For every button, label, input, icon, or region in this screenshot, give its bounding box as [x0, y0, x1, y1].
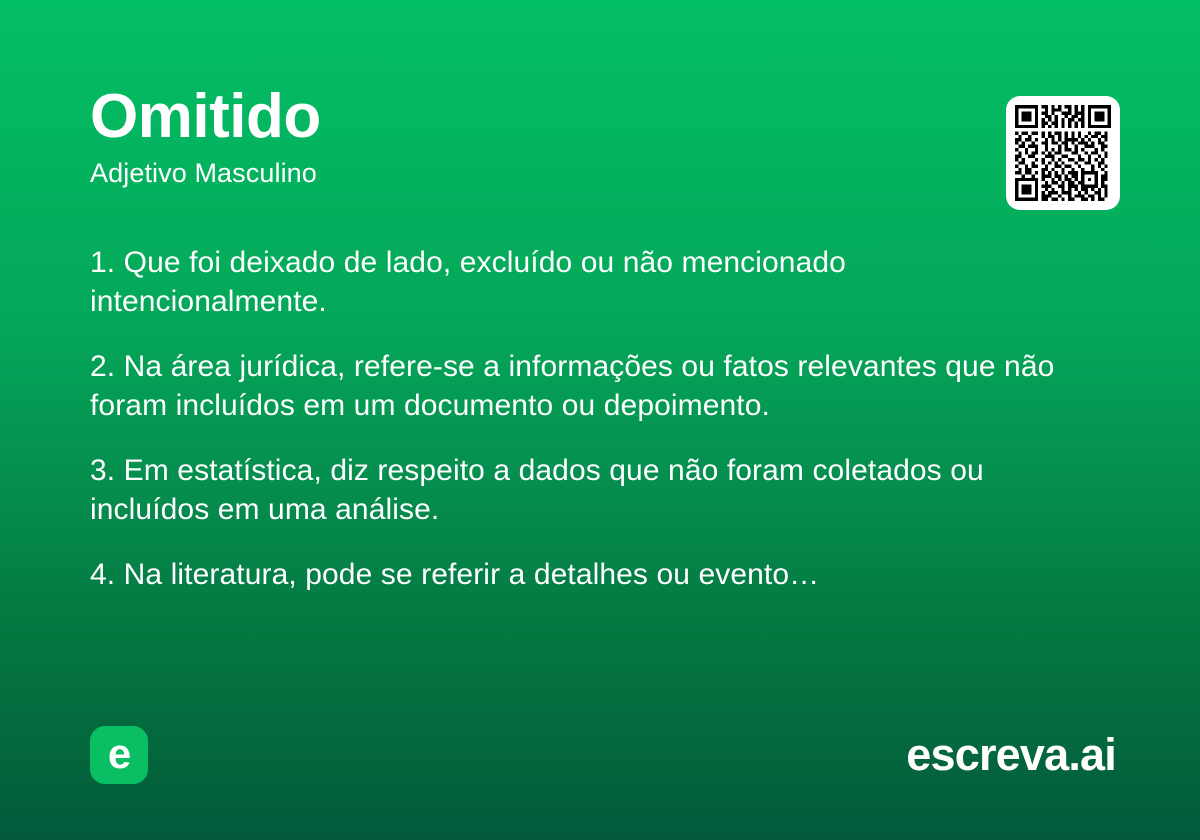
definition-item-2: 2. Na área jurídica, refere-se a informa… [90, 347, 1090, 425]
brand-wordmark: escreva.ai [906, 728, 1116, 782]
page-title: Omitido [90, 84, 1110, 149]
dictionary-card: Omitido Adjetivo Masculino [0, 0, 1200, 840]
card-header: Omitido Adjetivo Masculino [90, 84, 1110, 189]
definition-item-4: 4. Na literatura, pode se referir a deta… [90, 555, 1090, 594]
definition-list: 1. Que foi deixado de lado, excluído ou … [90, 243, 1090, 594]
qr-code-container[interactable] [1006, 96, 1120, 210]
definition-item-1: 1. Que foi deixado de lado, excluído ou … [90, 243, 1090, 321]
brand-logo-letter: e [90, 726, 148, 784]
qr-code-icon [1015, 105, 1111, 201]
card-footer: e escreva.ai [90, 726, 1116, 784]
definition-item-3: 3. Em estatística, diz respeito a dados … [90, 451, 1090, 529]
brand-logo[interactable]: e [90, 726, 148, 784]
word-class-label: Adjetivo Masculino [90, 157, 1110, 189]
